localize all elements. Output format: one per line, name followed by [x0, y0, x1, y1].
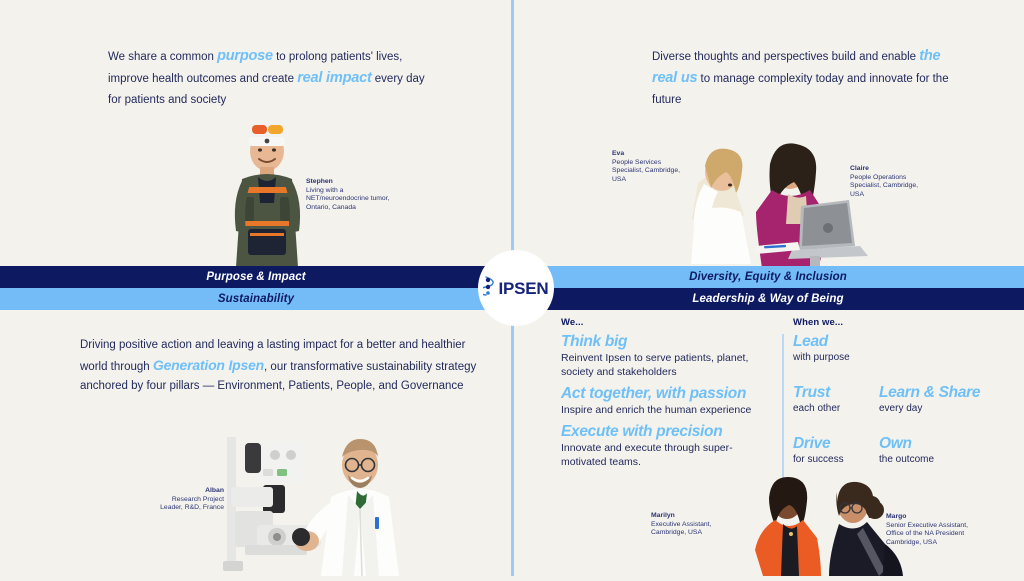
bar-purpose-impact: Purpose & Impact [0, 266, 512, 288]
caption-claire-line1: People Operations [850, 174, 906, 181]
caption-margo-name: Margo [886, 513, 1006, 522]
photo-eva-claire [660, 128, 875, 268]
caption-alban: Alban Research Project Leader, R&D, Fran… [120, 487, 224, 513]
dei-text-part1: Diverse thoughts and perspectives build … [652, 51, 919, 63]
caption-stephen-name: Stephen [306, 178, 426, 187]
behaviour-item-act-together: Act together, with passion Inspire and e… [561, 385, 776, 417]
behaviour-title-act-together: Act together, with passion [561, 385, 776, 403]
bar-leadership-way-of-being: Leadership & Way of Being [512, 288, 1024, 310]
ipsen-logo: IPSEN [478, 250, 554, 326]
behaviour-title-drive: Drive [793, 435, 879, 453]
behaviour-item-lead: Lead with purpose [793, 333, 1018, 365]
behaviours-we-column: We... Think big Reinvent Ipsen to serve … [561, 317, 776, 475]
caption-eva-line3: USA [612, 176, 626, 183]
caption-margo-line1: Senior Executive Assistant, [886, 522, 968, 529]
caption-margo: Margo Senior Executive Assistant, Office… [886, 513, 1006, 547]
vertical-divider-bottom [511, 310, 514, 576]
caption-claire-name: Claire [850, 165, 950, 174]
poster-canvas: We share a common purpose to prolong pat… [0, 0, 1024, 576]
caption-marilyn-name: Marilyn [651, 512, 751, 521]
caption-stephen: Stephen Living with a NET/neuroendocrine… [306, 178, 426, 212]
vertical-divider-top [511, 0, 514, 262]
sustainability-intro-text: Driving positive action and leaving a la… [80, 336, 480, 397]
behaviour-item-drive: Drive for success [793, 435, 879, 467]
caption-stephen-line2: NET/neuroendocrine tumor, [306, 195, 390, 202]
caption-alban-name: Alban [120, 487, 224, 496]
behaviours-column-divider [782, 334, 784, 479]
behaviour-item-trust: Trust each other [793, 384, 879, 416]
behaviour-desc-own: the outcome [879, 453, 1018, 467]
behaviour-desc-drive: for success [793, 453, 879, 467]
behaviour-desc-learn-share: every day [879, 402, 1018, 416]
purpose-highlight-2: real impact [297, 70, 371, 86]
caption-eva-line2: Specialist, Cambridge, [612, 167, 680, 174]
behaviour-item-think-big: Think big Reinvent Ipsen to serve patien… [561, 333, 776, 379]
ipsen-wordmark: IPSEN [498, 280, 548, 297]
caption-stephen-line1: Living with a [306, 187, 343, 194]
behaviour-desc-think-big: Reinvent Ipsen to serve patients, planet… [561, 351, 776, 379]
purpose-intro-text: We share a common purpose to prolong pat… [108, 46, 438, 111]
caption-marilyn-line2: Cambridge, USA [651, 529, 702, 536]
behaviour-title-think-big: Think big [561, 333, 776, 351]
caption-claire-line3: USA [850, 191, 864, 198]
behaviour-item-learn-share: Learn & Share every day [879, 384, 1018, 416]
dei-intro-text: Diverse thoughts and perspectives build … [652, 46, 952, 111]
caption-marilyn: Marilyn Executive Assistant, Cambridge, … [651, 512, 751, 538]
dei-text-part2: to manage complexity today and innovate … [652, 73, 949, 106]
whenwe-heading: When we... [793, 317, 1018, 328]
caption-alban-line2: Leader, R&D, France [160, 504, 224, 511]
behaviour-desc-act-together: Inspire and enrich the human experience [561, 403, 776, 417]
bar-sustainability: Sustainability [0, 288, 512, 310]
photo-alban [205, 425, 420, 576]
behaviour-title-lead: Lead [793, 333, 1018, 351]
sustainability-highlight-1: Generation Ipsen [153, 357, 264, 373]
purpose-highlight-1: purpose [217, 48, 273, 64]
behaviour-desc-trust: each other [793, 402, 879, 416]
caption-claire: Claire People Operations Specialist, Cam… [850, 165, 950, 199]
we-heading: We... [561, 317, 776, 328]
behaviours-whenwe-column: When we... Lead with purpose Trust each … [793, 317, 1018, 467]
behaviour-item-execute-precision: Execute with precision Innovate and exec… [561, 423, 776, 469]
caption-claire-line2: Specialist, Cambridge, [850, 182, 918, 189]
caption-alban-line1: Research Project [172, 496, 224, 503]
caption-eva-line1: People Services [612, 159, 661, 166]
behaviour-title-learn-share: Learn & Share [879, 384, 1018, 402]
behaviour-title-own: Own [879, 435, 1018, 453]
ipsen-helix-icon [483, 275, 496, 302]
caption-eva: Eva People Services Specialist, Cambridg… [612, 150, 712, 184]
bar-diversity-equity-inclusion: Diversity, Equity & Inclusion [512, 266, 1024, 288]
behaviour-desc-execute-precision: Innovate and execute through super-motiv… [561, 441, 776, 469]
caption-marilyn-line1: Executive Assistant, [651, 521, 711, 528]
behaviour-desc-lead: with purpose [793, 351, 1018, 365]
behaviour-title-execute-precision: Execute with precision [561, 423, 776, 441]
purpose-text-part1: We share a common [108, 51, 217, 63]
caption-margo-line3: Cambridge, USA [886, 539, 937, 546]
caption-margo-line2: Office of the NA President [886, 530, 964, 537]
behaviour-title-trust: Trust [793, 384, 879, 402]
caption-eva-name: Eva [612, 150, 712, 159]
caption-stephen-line3: Ontario, Canada [306, 204, 356, 211]
behaviour-item-own: Own the outcome [879, 435, 1018, 467]
